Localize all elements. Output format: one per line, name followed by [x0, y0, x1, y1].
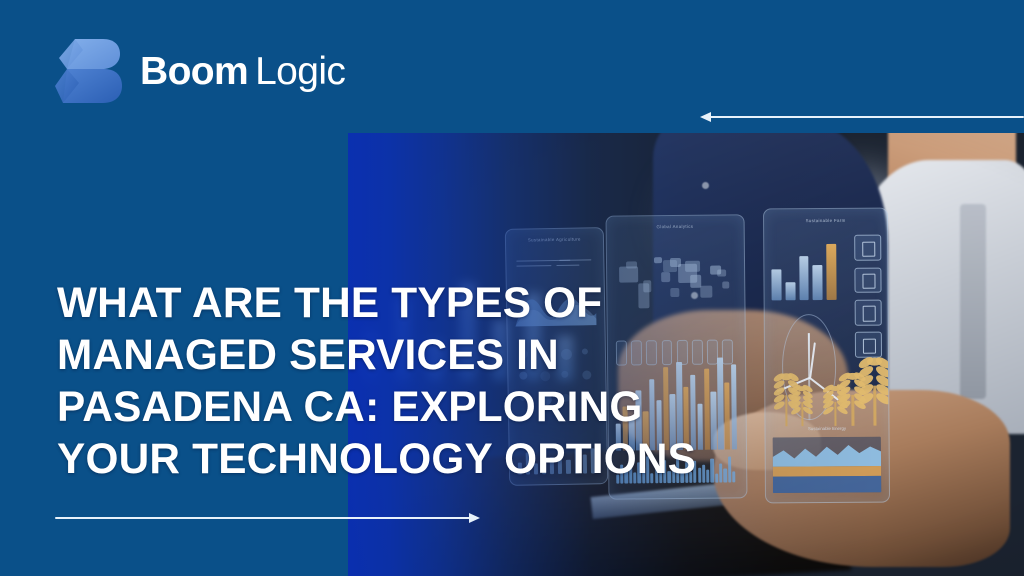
headline-line-3: PASADENA CA: EXPLORING — [57, 381, 806, 433]
arrow-left-icon — [700, 110, 1024, 124]
headline-line-1: WHAT ARE THE TYPES OF — [57, 277, 806, 329]
blog-banner: Sustainable Agriculture Global Analytics — [0, 0, 1024, 576]
boom-logic-b-mark-icon — [55, 36, 123, 106]
logo-word-logic: Logic — [255, 50, 345, 93]
headline-line-4: YOUR TECHNOLOGY OPTIONS — [57, 433, 806, 485]
arrow-right-icon — [55, 511, 480, 525]
logo-lockup[interactable]: BoomLogic — [55, 36, 345, 106]
logo-word-boom: Boom — [140, 50, 248, 93]
logo-wordmark: BoomLogic — [140, 52, 345, 91]
headline-line-2: MANAGED SERVICES IN — [57, 329, 806, 381]
page-title: WHAT ARE THE TYPES OF MANAGED SERVICES I… — [57, 277, 817, 485]
